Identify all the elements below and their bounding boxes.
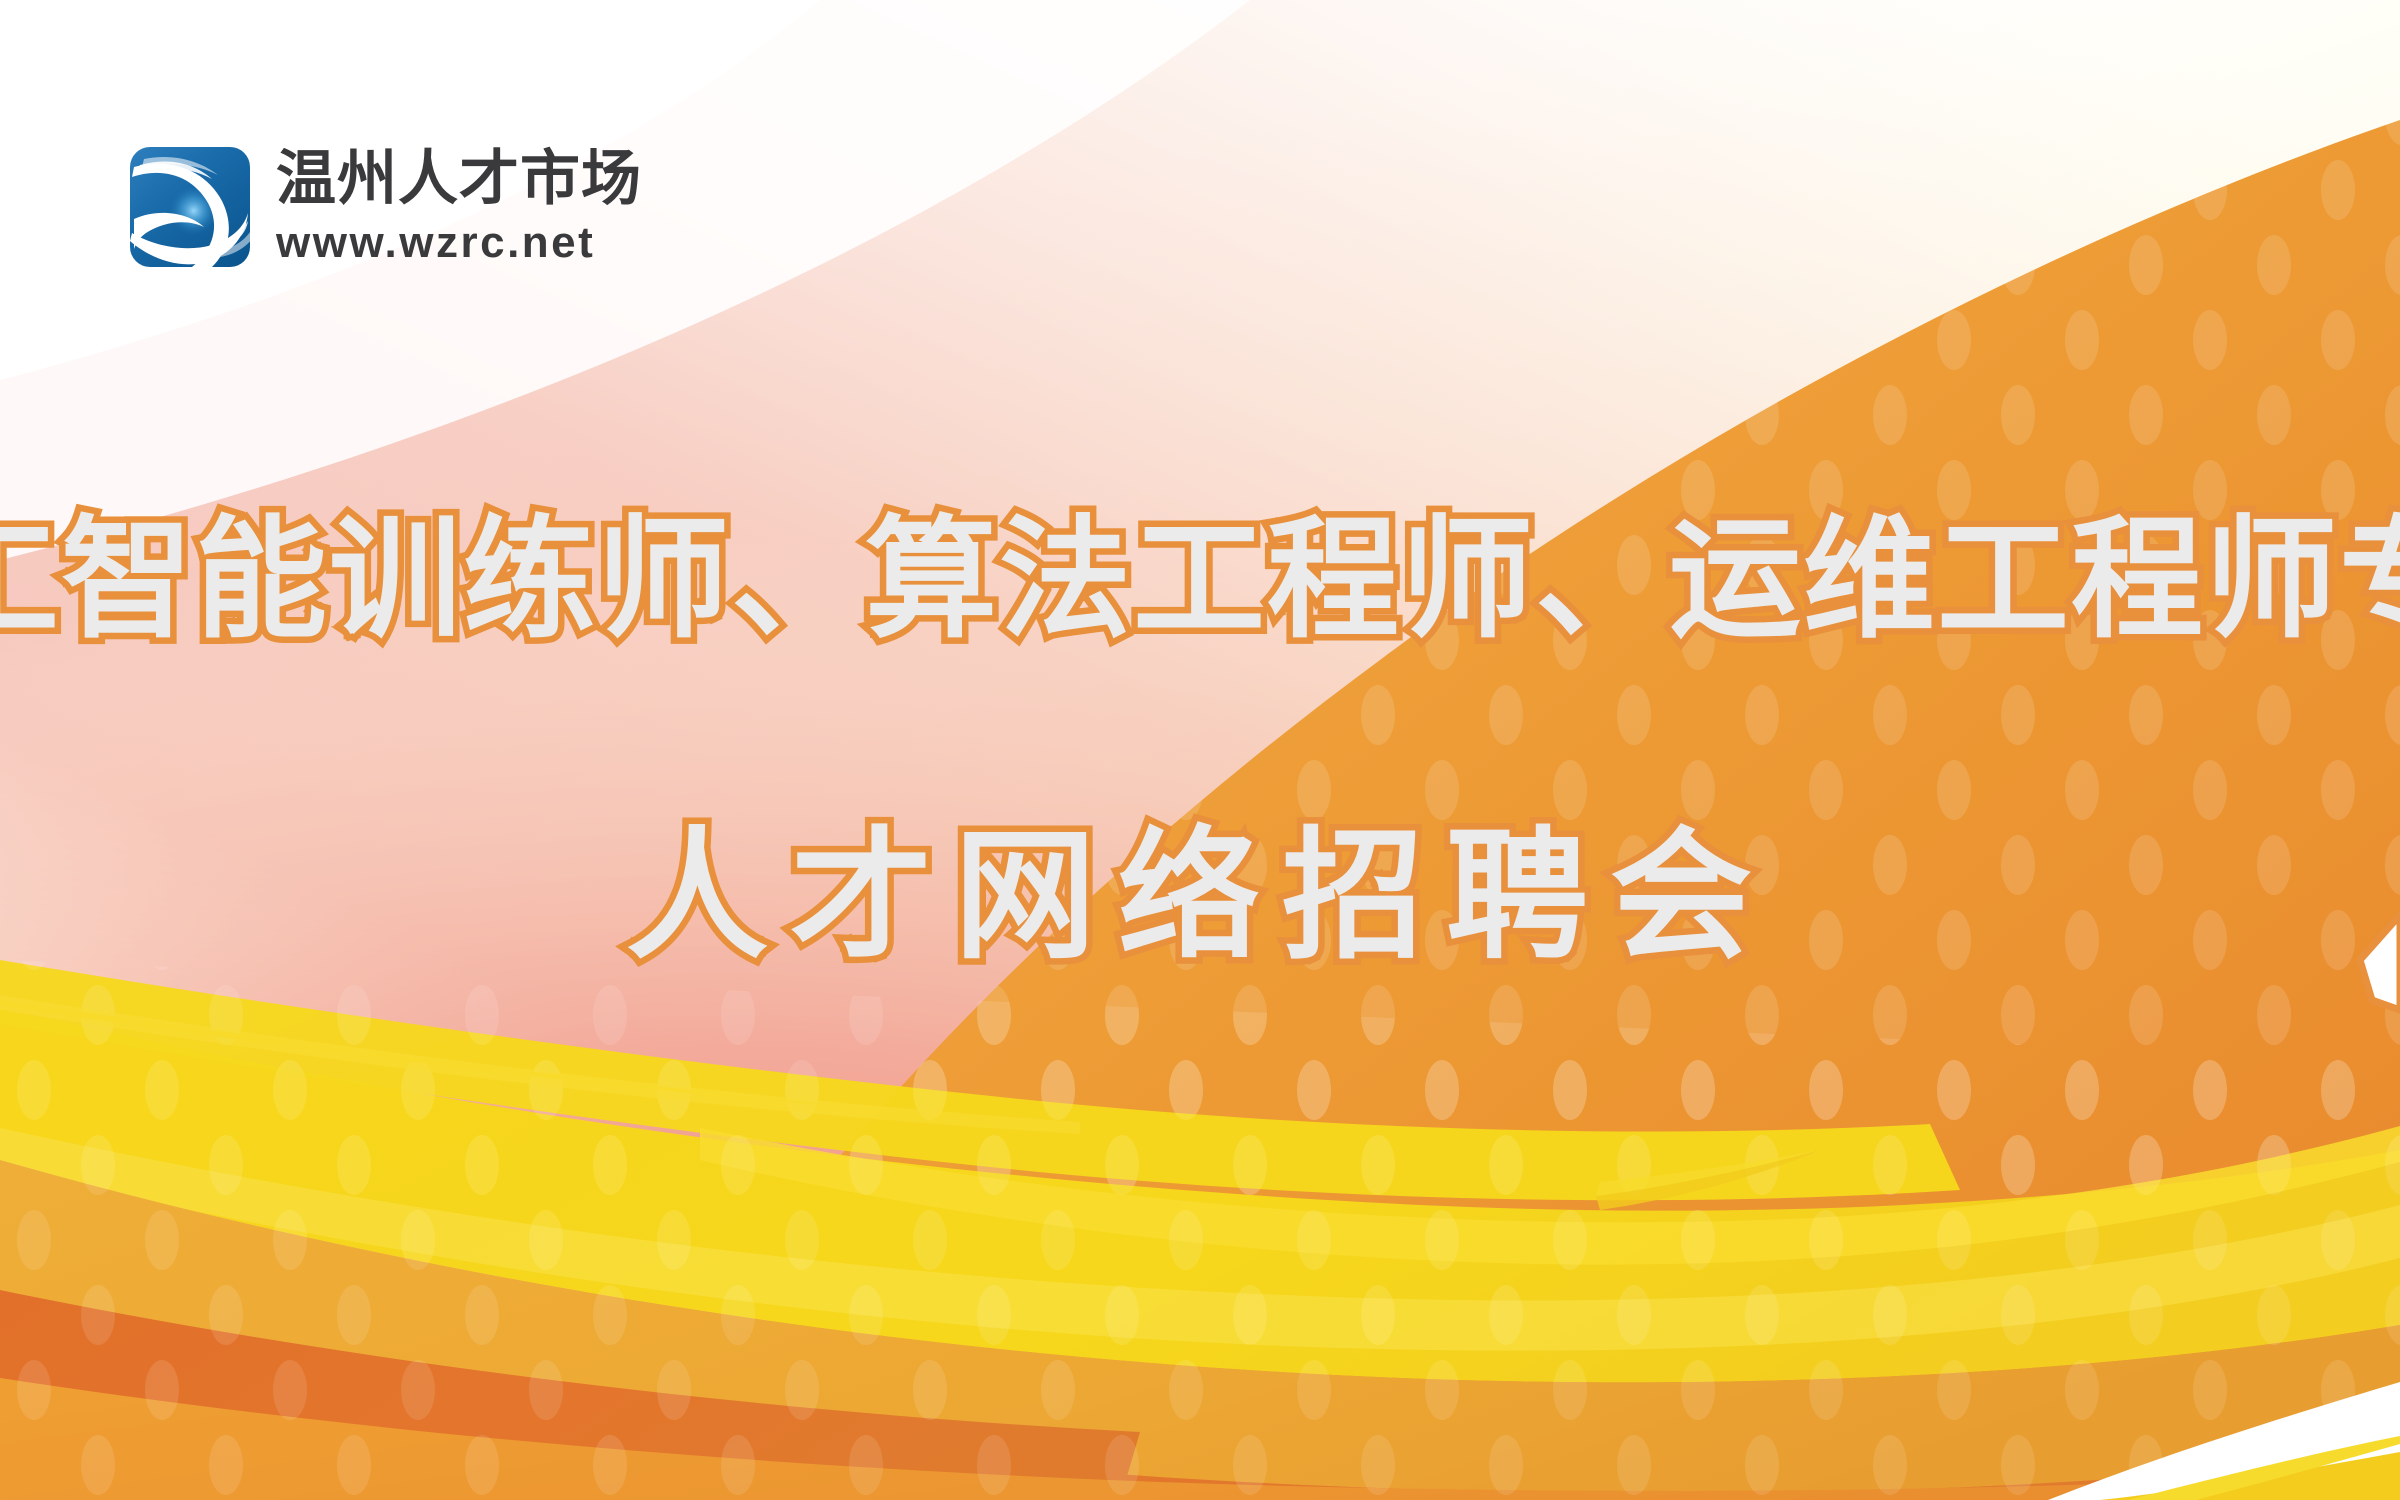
wzrc-swoosh-logo-icon bbox=[128, 145, 252, 269]
organization-name: 温州人才市场 bbox=[276, 149, 642, 209]
website-url: www.wzrc.net bbox=[276, 221, 642, 265]
logo-text-group: 温州人才市场 www.wzrc.net bbox=[276, 149, 642, 265]
headline-line-1: 人工智能训练师、算法工程师、运维工程师专业 bbox=[0, 503, 2400, 657]
poster-canvas: 人工智能训练师、算法工程师、运维工程师专业 人才网络招聘会 bbox=[0, 0, 2400, 1500]
logo-block[interactable]: 温州人才市场 www.wzrc.net bbox=[128, 145, 642, 269]
headline-line-2: 人才网络招聘会 bbox=[626, 814, 1774, 979]
